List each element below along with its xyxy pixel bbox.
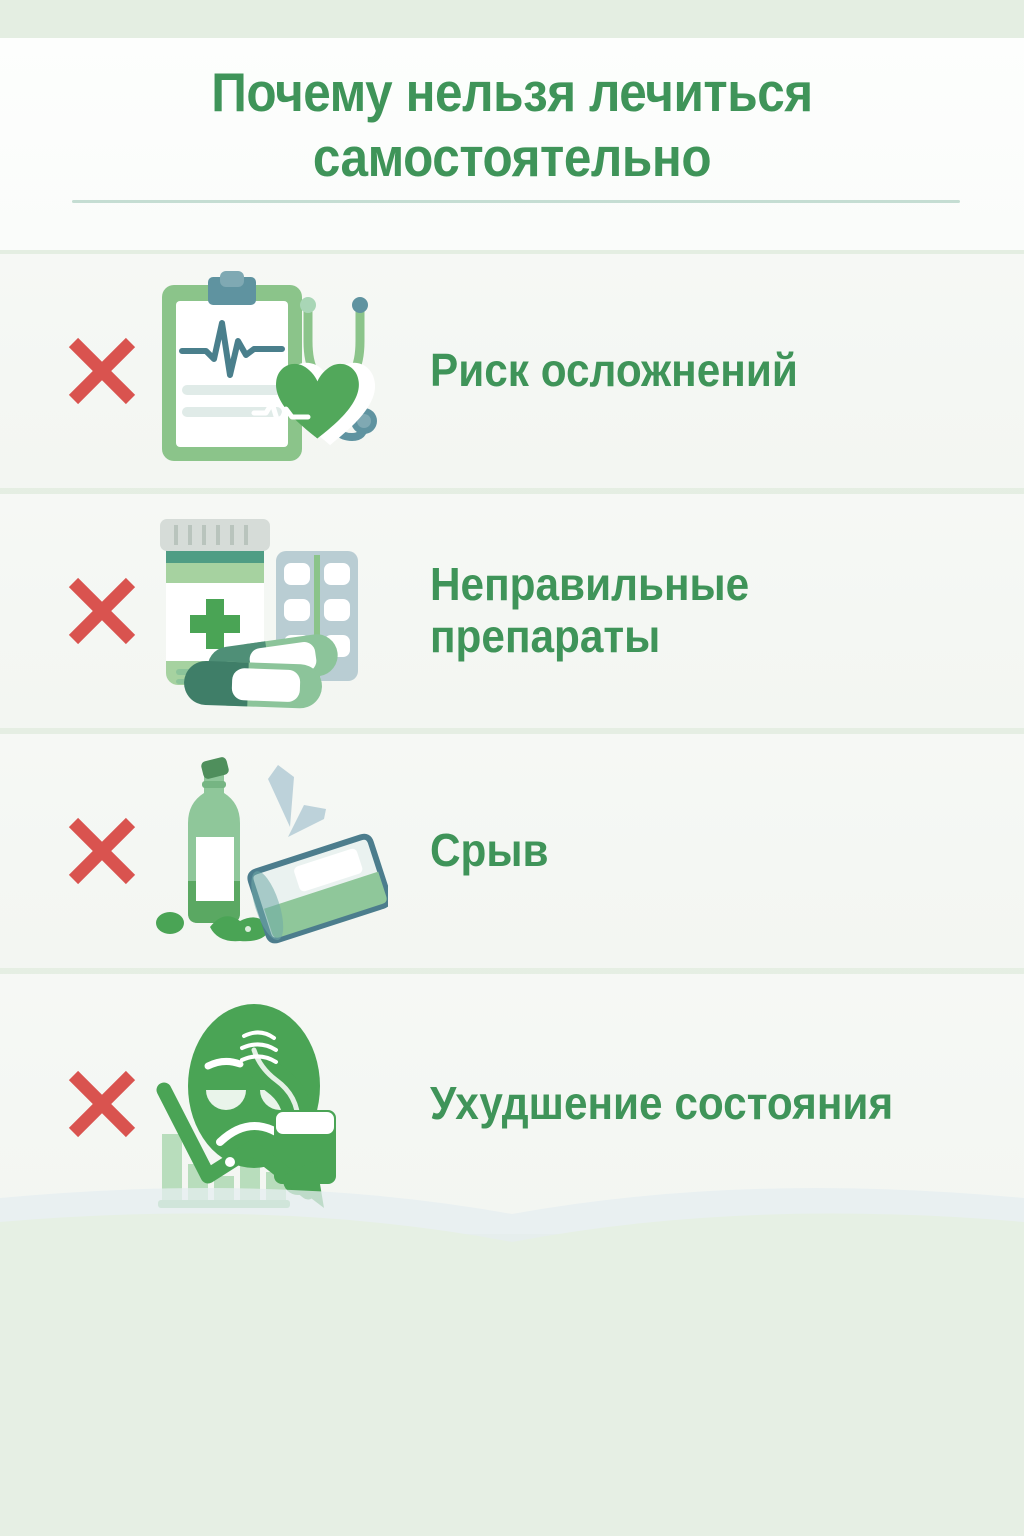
red-cross-icon (56, 325, 148, 417)
page-title: Почему нельзя лечиться самостоятельно (116, 60, 908, 190)
list-item-relapse[interactable]: Срыв (0, 734, 1024, 968)
list-item-label: Ухудшение состояния (430, 1078, 945, 1130)
title-divider (72, 200, 960, 203)
list-item-risk[interactable]: Риск осложнений (0, 254, 1024, 488)
red-cross-icon (56, 805, 148, 897)
label-line-2: препараты (430, 610, 660, 662)
list-item-label: Риск осложнений (430, 345, 945, 397)
label-line-1: Неправильные (430, 558, 749, 610)
list-item-label: Неправильные препараты (430, 559, 945, 662)
list-item-wrong-drugs[interactable]: Неправильные препараты (0, 494, 1024, 728)
red-cross-icon (56, 565, 148, 657)
infographic-page: Почему нельзя лечиться самостоятельно (0, 0, 1024, 1536)
list-item-label: Срыв (430, 825, 945, 877)
medicine-bottle-pills-icon (148, 511, 388, 711)
clipboard-stethoscope-heart-icon (148, 271, 388, 471)
red-cross-icon (56, 1058, 148, 1150)
bottle-spilled-glass-icon (148, 751, 388, 951)
header-card: Почему нельзя лечиться самостоятельно (0, 38, 1024, 250)
bottom-wave-decoration (0, 1180, 1024, 1320)
